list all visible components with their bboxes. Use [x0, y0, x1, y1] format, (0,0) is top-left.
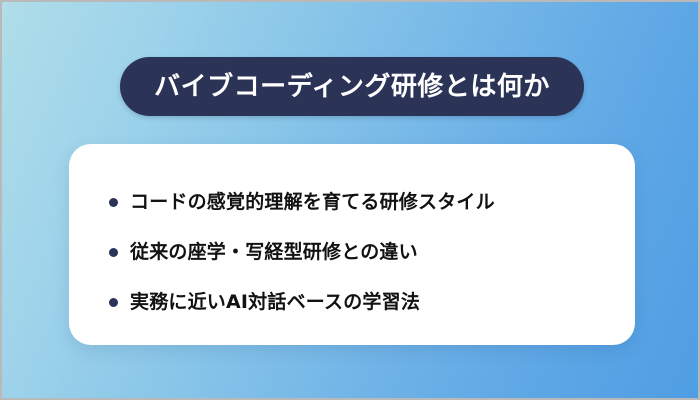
slide-title-pill: バイブコーディング研修とは何か [120, 57, 584, 116]
bullet-dot-icon [109, 298, 118, 307]
list-item-label: 実務に近いAI対話ベースの学習法 [130, 291, 420, 314]
list-item: 従来の座学・写経型研修との違い [109, 227, 595, 277]
list-item-label: 従来の座学・写経型研修との違い [130, 241, 418, 264]
bullet-list: コードの感覚的理解を育てる研修スタイル 従来の座学・写経型研修との違い 実務に近… [109, 177, 595, 327]
bullet-dot-icon [109, 248, 118, 257]
list-item: コードの感覚的理解を育てる研修スタイル [109, 177, 595, 227]
list-item: 実務に近いAI対話ベースの学習法 [109, 277, 595, 327]
page-title: バイブコーディング研修とは何か [154, 74, 550, 100]
slide-canvas: バイブコーディング研修とは何か コードの感覚的理解を育てる研修スタイル 従来の座… [0, 0, 700, 400]
list-item-label: コードの感覚的理解を育てる研修スタイル [130, 191, 495, 214]
bullet-dot-icon [109, 198, 118, 207]
content-card: コードの感覚的理解を育てる研修スタイル 従来の座学・写経型研修との違い 実務に近… [69, 144, 635, 345]
